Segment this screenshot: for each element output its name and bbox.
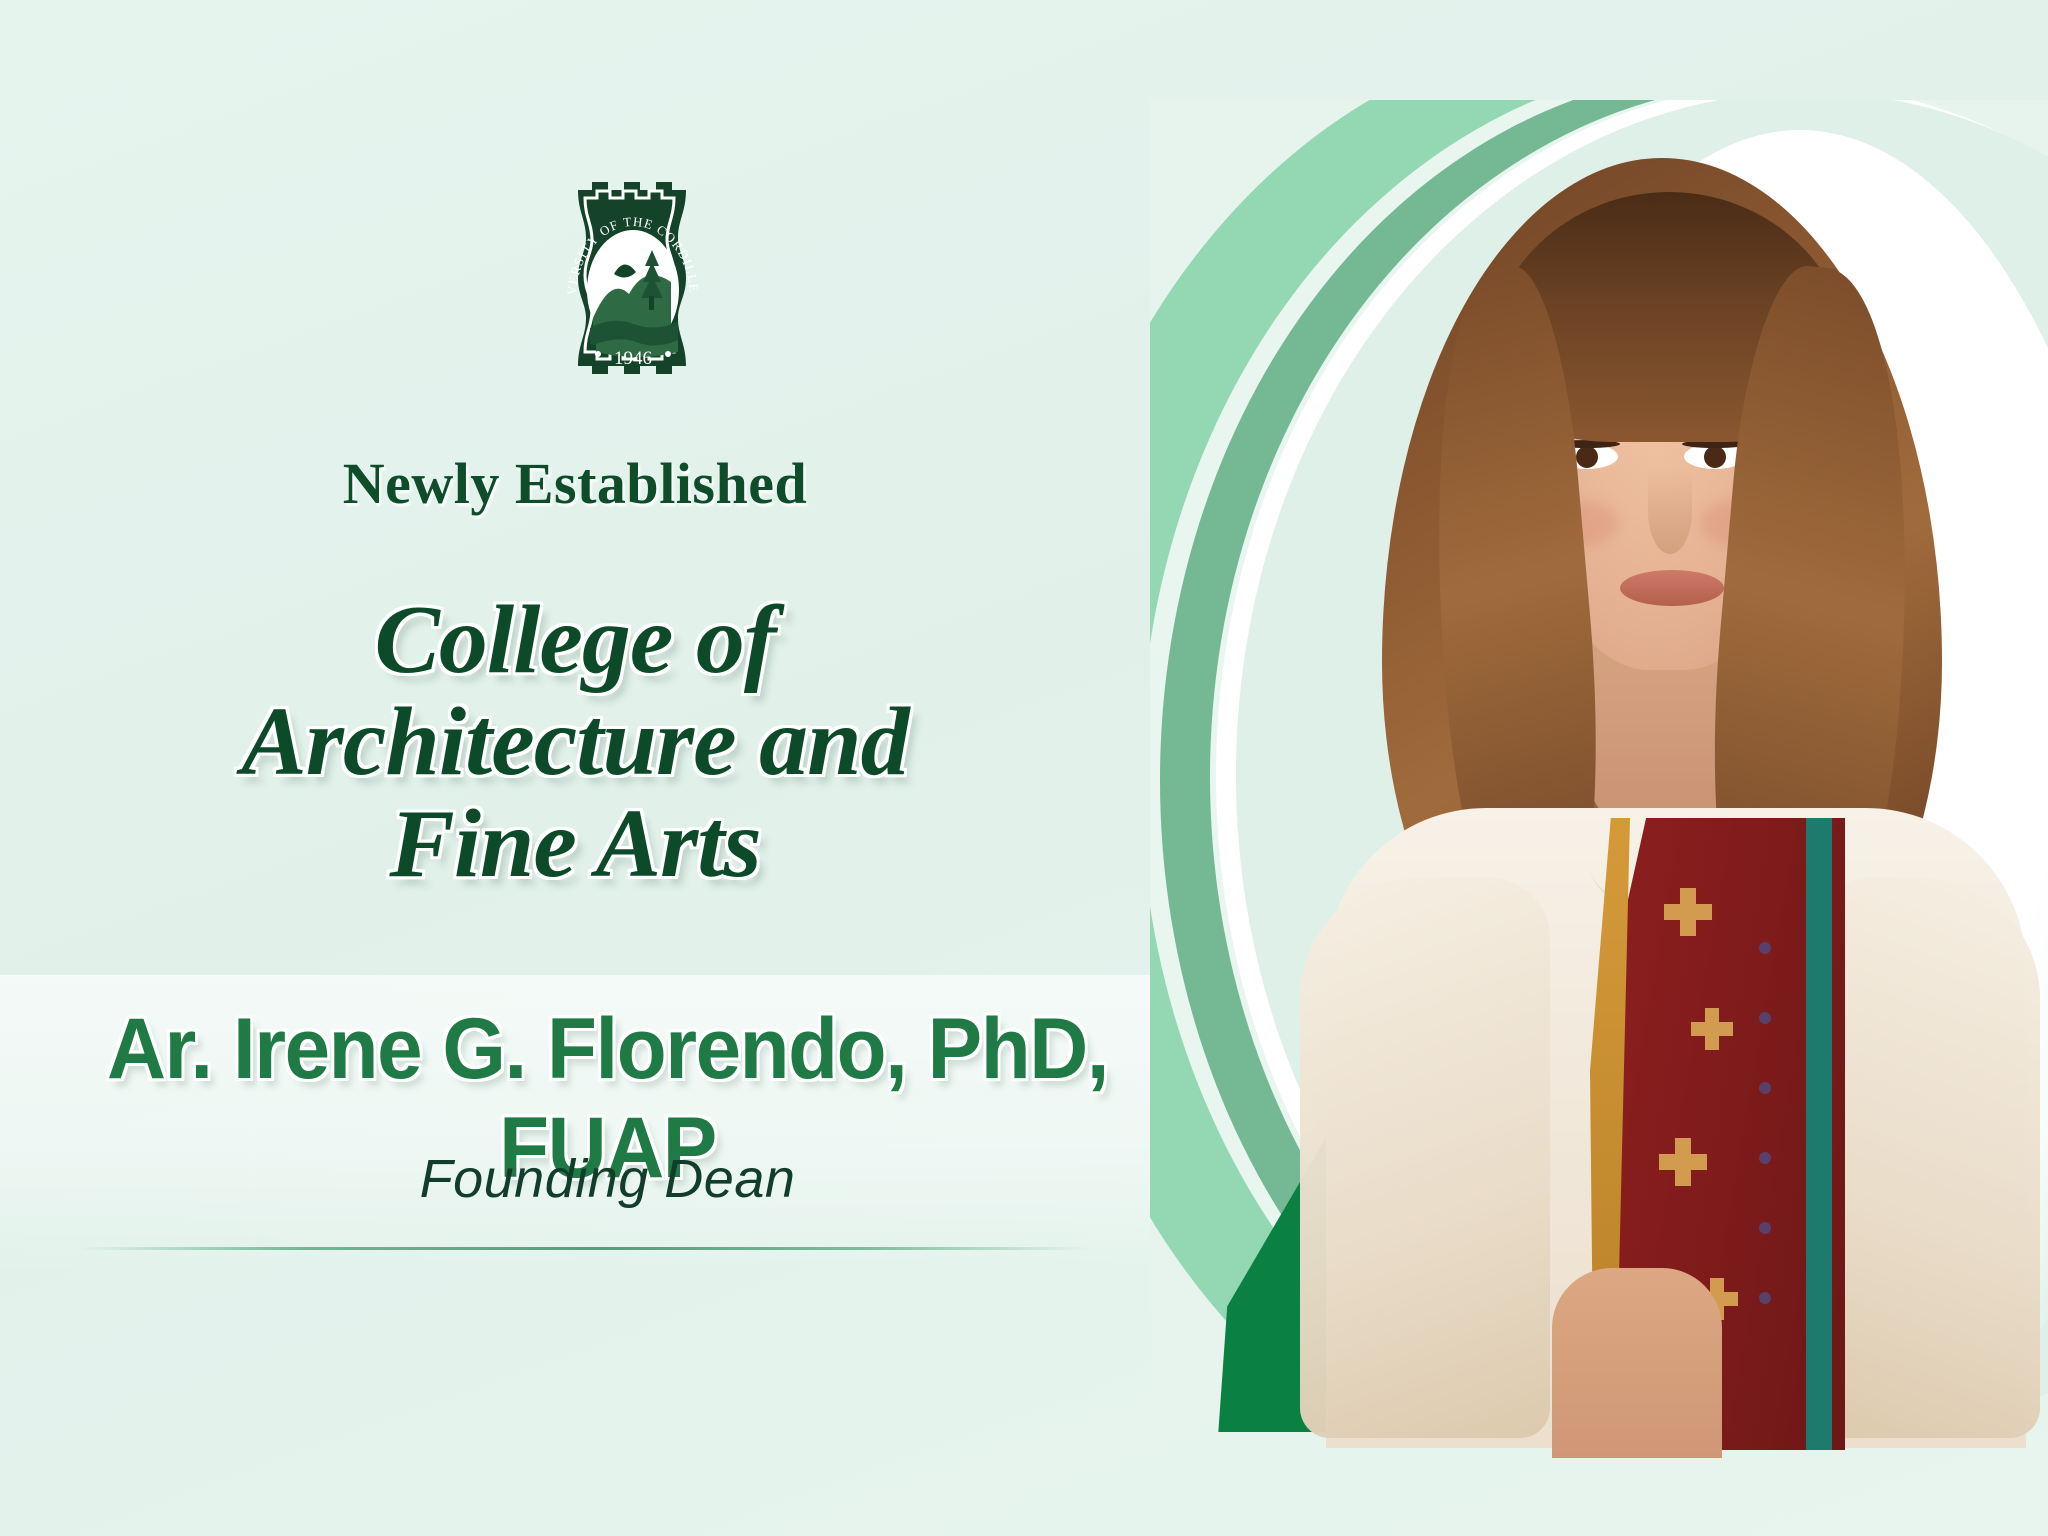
blouse-sleeve-left — [1300, 878, 1550, 1438]
seal-year: 1946 — [614, 348, 652, 369]
forearm — [1552, 1268, 1722, 1458]
dean-portrait — [1290, 118, 2048, 1434]
lips — [1620, 570, 1724, 606]
eyebrow-text: Newly Established — [0, 450, 1150, 517]
divider — [80, 1247, 1090, 1250]
nose — [1648, 468, 1692, 554]
headline-line-1: College of — [0, 590, 1150, 692]
poster-canvas: 1946 UNIVERSITY OF THE CORDILLERAS Newly… — [0, 0, 2048, 1536]
page-title: College of Architecture and Fine Arts — [0, 590, 1150, 896]
university-crest-icon: 1946 UNIVERSITY OF THE CORDILLERAS — [548, 178, 718, 398]
person-role: Founding Dean — [0, 1148, 1215, 1210]
headline-line-3: Fine Arts — [0, 794, 1150, 896]
headline-line-2: Architecture and — [0, 692, 1150, 794]
shawl-teal-stripe — [1806, 818, 1832, 1450]
